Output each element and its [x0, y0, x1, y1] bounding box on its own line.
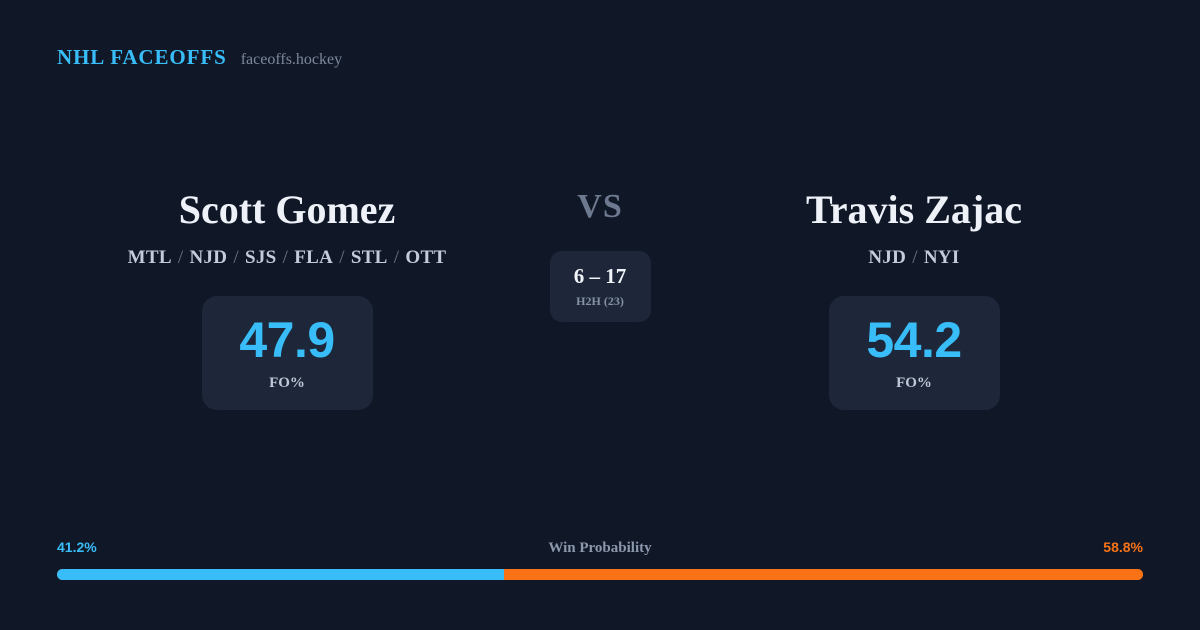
win-probability-section: 41.2% Win Probability 58.8% — [57, 539, 1143, 580]
matchup-section: Scott Gomez MTL / NJD / SJS / FLA / STL … — [0, 190, 1200, 430]
header: NHL FACEOFFS faceoffs.hockey — [57, 47, 342, 68]
versus-label: VS — [500, 190, 700, 224]
player-right-name: Travis Zajac — [704, 190, 1124, 230]
win-probability-left-value: 41.2% — [57, 539, 97, 556]
player-left-teams: MTL / NJD / SJS / FLA / STL / OTT — [77, 248, 497, 267]
brand-title: NHL FACEOFFS — [57, 47, 227, 68]
brand-domain: faceoffs.hockey — [241, 52, 342, 68]
player-left-stat-card: 47.9 FO% — [202, 296, 373, 410]
versus-column: VS 6 – 17 H2H (23) — [500, 190, 700, 322]
win-probability-bar-left-segment — [57, 569, 504, 580]
faceoff-matchup-card: NHL FACEOFFS faceoffs.hockey Scott Gomez… — [0, 0, 1200, 630]
win-probability-bar — [57, 569, 1143, 580]
player-right-teams-text: NJD / NYI — [868, 247, 959, 268]
win-probability-right-value: 58.8% — [1103, 539, 1143, 556]
player-left: Scott Gomez MTL / NJD / SJS / FLA / STL … — [77, 190, 497, 410]
player-right-faceoff-percent: 54.2 — [866, 315, 961, 365]
head-to-head-label: H2H (23) — [576, 295, 624, 307]
win-probability-labels: 41.2% Win Probability 58.8% — [57, 539, 1143, 557]
player-right-stat-label: FO% — [896, 376, 932, 391]
win-probability-bar-right-segment — [504, 569, 1143, 580]
player-left-teams-text: MTL / NJD / SJS / FLA / STL / OTT — [128, 247, 447, 268]
player-right: Travis Zajac NJD / NYI 54.2 FO% — [704, 190, 1124, 410]
player-left-stat-label: FO% — [269, 376, 305, 391]
player-left-name: Scott Gomez — [77, 190, 497, 230]
head-to-head-card: 6 – 17 H2H (23) — [550, 251, 651, 322]
win-probability-title: Win Probability — [548, 539, 651, 557]
player-right-stat-card: 54.2 FO% — [829, 296, 1000, 410]
player-left-faceoff-percent: 47.9 — [239, 315, 334, 365]
player-right-teams: NJD / NYI — [704, 248, 1124, 267]
head-to-head-score: 6 – 17 — [574, 266, 627, 287]
